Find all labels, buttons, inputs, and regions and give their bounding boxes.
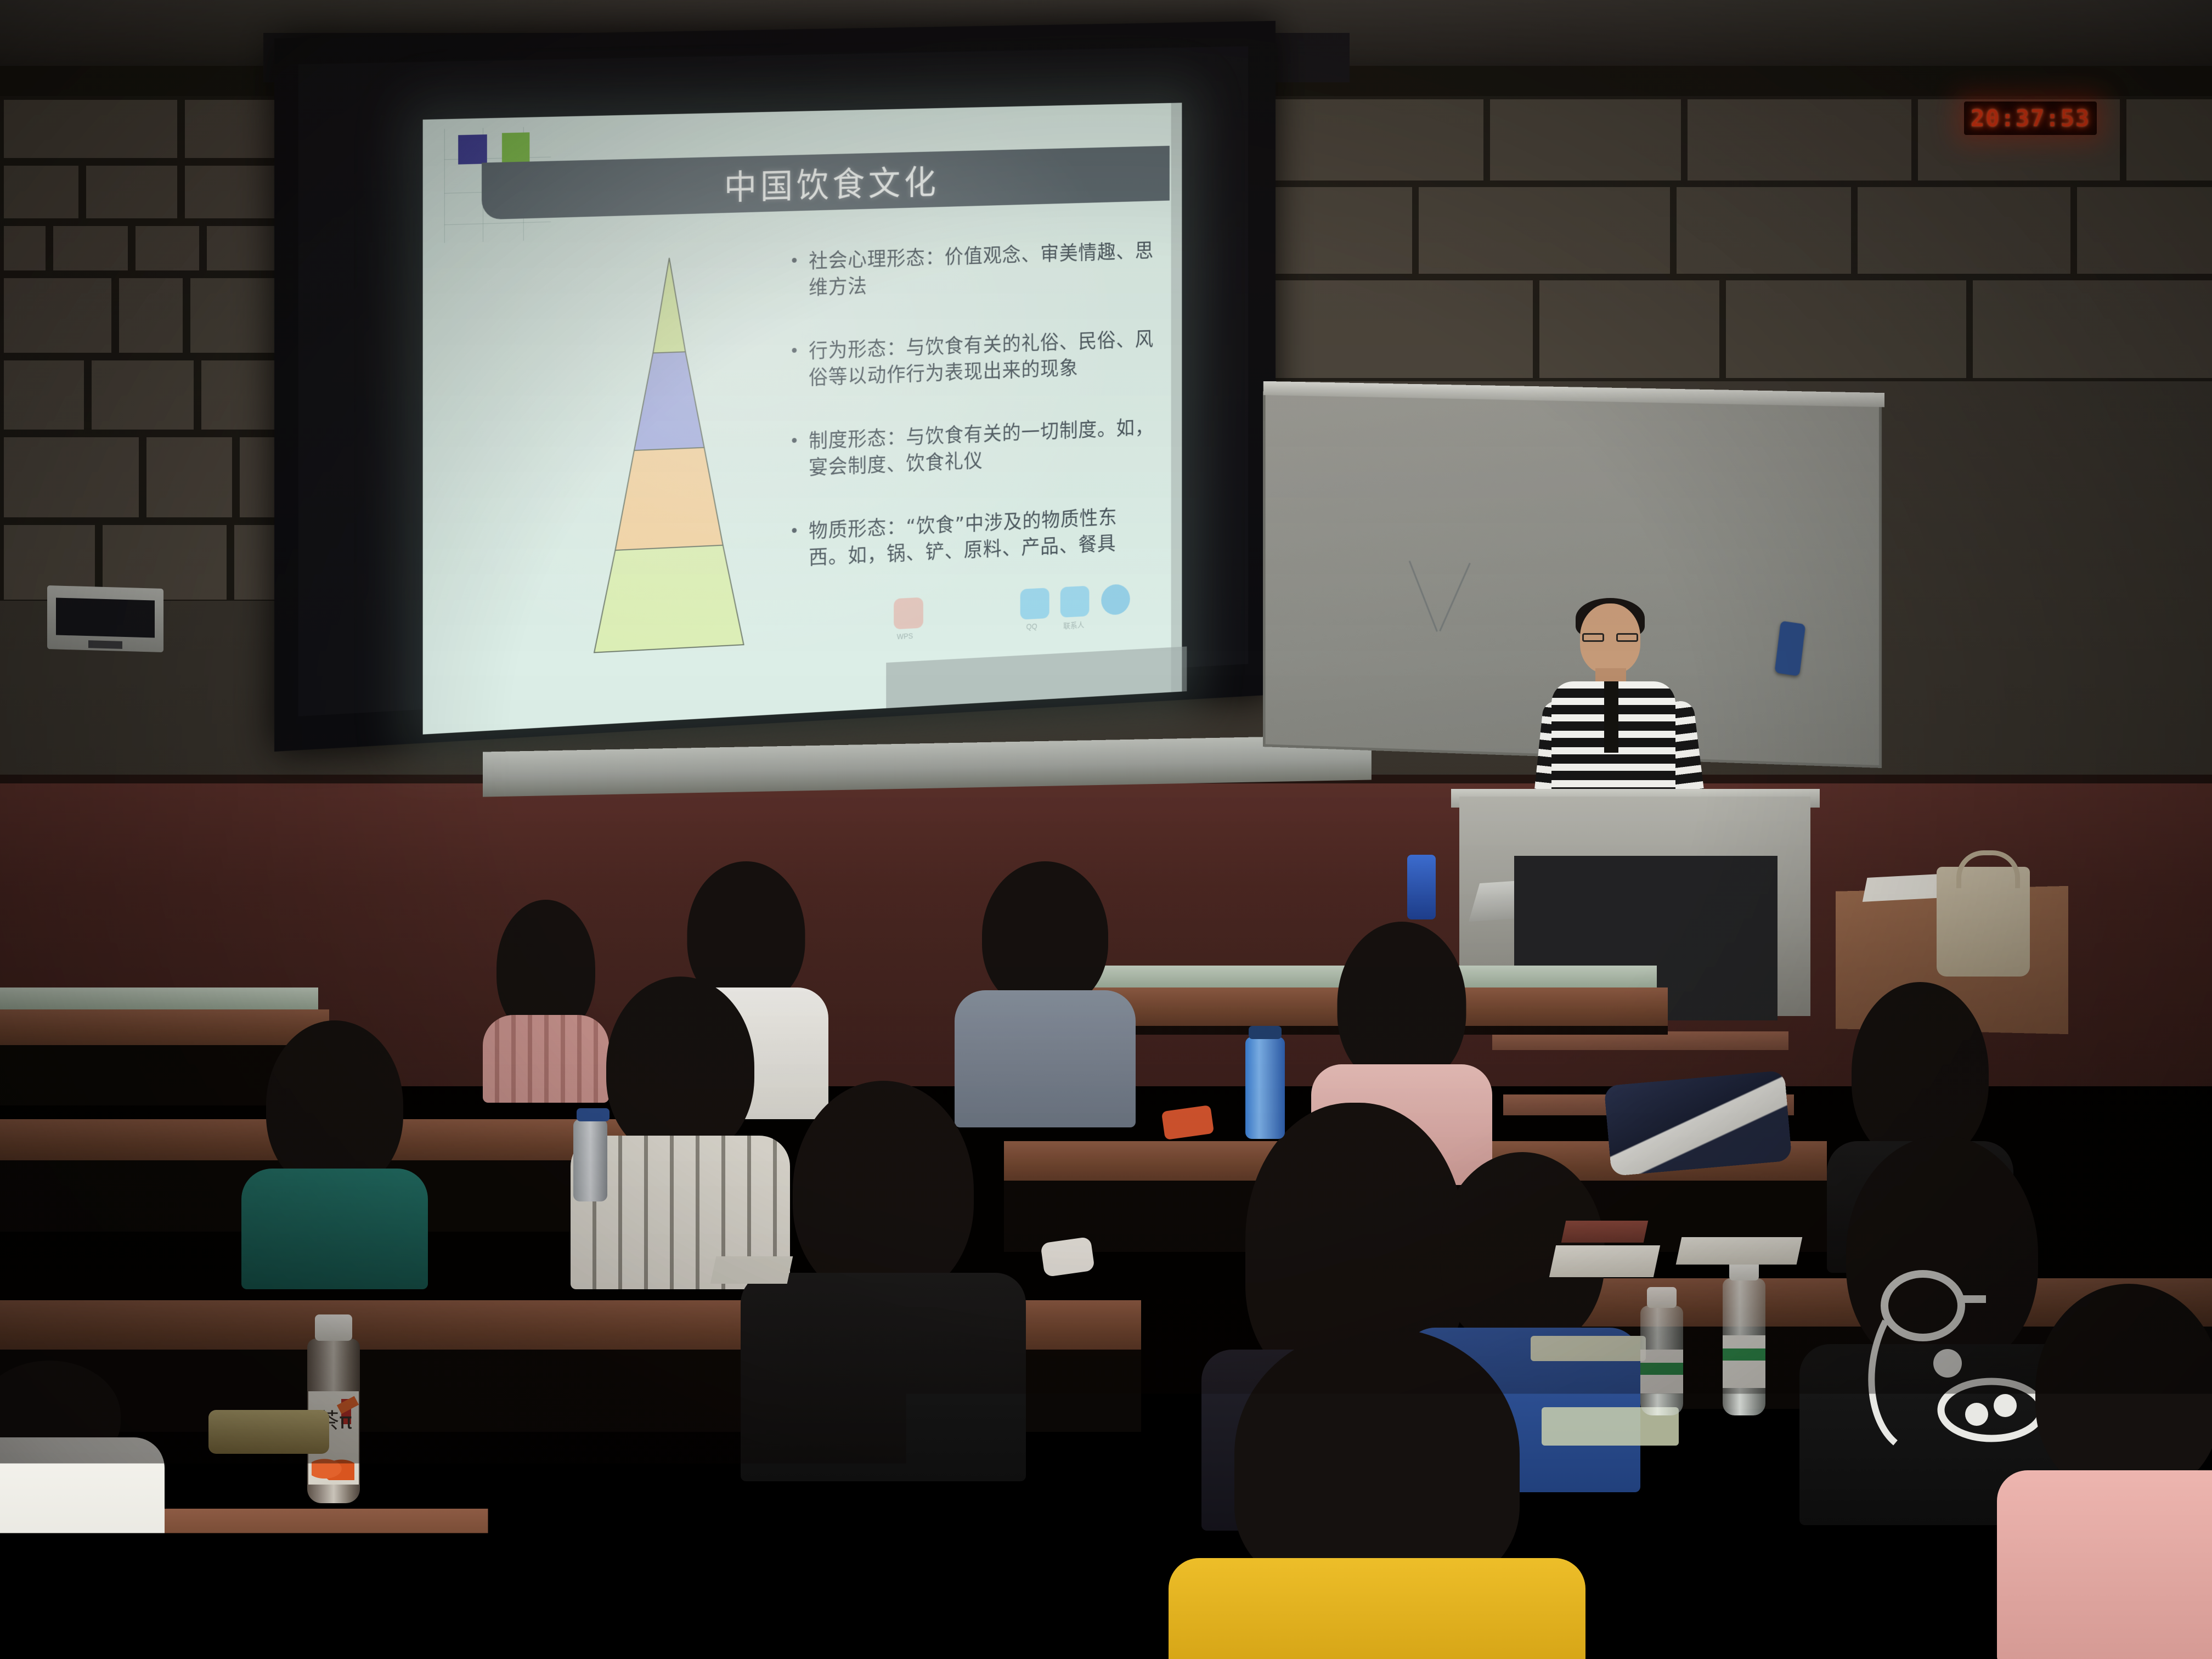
- bullet-dot: •: [791, 338, 809, 392]
- lattice-block: [143, 433, 236, 521]
- panel-screen: [56, 597, 155, 637]
- list-item: • 制度形态：与饮食有关的一切制度。如，宴会制度、饮食礼仪: [791, 415, 1155, 482]
- thermos-cap: [1249, 1026, 1282, 1039]
- student-pink-shirt-right: [1997, 1284, 2212, 1659]
- bullet-text: 物质形态：“饮食”中涉及的物质性东西。如，锅、铲、原料、产品、餐具: [809, 503, 1155, 572]
- bullet-dot: •: [791, 518, 809, 572]
- notebook-open: [1676, 1237, 1803, 1265]
- bottle-label: [1723, 1335, 1765, 1388]
- lattice-block: [1536, 277, 1723, 381]
- cable-svg: [911, 1536, 1251, 1659]
- flask-cap: [577, 1108, 610, 1121]
- panel-button[interactable]: [88, 640, 122, 649]
- bullet-text: 社会心理形态：价值观念、审美情趣、思维方法: [809, 238, 1155, 301]
- bullet-text: 制度形态：与饮食有关的一切制度。如，宴会制度、饮食礼仪: [809, 415, 1155, 482]
- lattice-block: [0, 222, 49, 274]
- screen-surface: 中国饮食文化 • 社会心理形态：价值观念、审美情趣、思维方法: [298, 46, 1248, 716]
- lattice-block: [2123, 96, 2212, 184]
- student-teal-top: [241, 1020, 428, 1284]
- lattice-block: [0, 96, 181, 162]
- list-item: • 物质形态：“饮食”中涉及的物质性东西。如，锅、铲、原料、产品、餐具: [791, 503, 1155, 572]
- lattice-block: [115, 274, 187, 357]
- paper-sheet: [710, 1256, 793, 1284]
- bottle-label: [1640, 1350, 1683, 1393]
- pyramid-svg: [583, 252, 755, 657]
- lattice-block: [1673, 184, 1854, 277]
- slide-title: 中国饮食文化: [724, 155, 940, 210]
- lattice-block: [1251, 277, 1536, 381]
- lattice-block: [181, 96, 285, 162]
- lattice-block: [0, 274, 115, 357]
- wall-led-clock: 20:37:53: [1964, 101, 2097, 135]
- metal-flask: [573, 1119, 607, 1201]
- pyramid-layer-4: [594, 544, 744, 652]
- bullet-text: 行为形态：与饮食有关的礼俗、民俗、风俗等以动作行为表现出来的现象: [809, 326, 1155, 391]
- bullet-dot: •: [791, 249, 809, 302]
- contacts-icon-label: 联系人: [1063, 619, 1084, 631]
- lattice-block: [0, 433, 143, 521]
- deco-square-green: [502, 132, 529, 164]
- wall-control-panel[interactable]: [47, 585, 163, 652]
- label-pepper-art: [312, 1452, 354, 1480]
- four-layer-pyramid-diagram: [583, 252, 755, 657]
- qq-icon[interactable]: [1020, 588, 1049, 619]
- bullet-dot: •: [791, 428, 809, 482]
- podium-shelf-upper: [1492, 1031, 1788, 1050]
- pyramid-layer-1: [653, 257, 685, 353]
- classroom-scene: 20:37:53 中国饮食文化: [0, 0, 2212, 1659]
- slide-bullet-list: • 社会心理形态：价值观念、审美情趣、思维方法 • 行为形态：与饮食有关的礼俗、…: [791, 238, 1155, 610]
- wps-icon-label: WPS: [897, 631, 913, 641]
- whiteboard-magnet[interactable]: [1775, 620, 1806, 676]
- browser-icon[interactable]: [1101, 584, 1130, 616]
- lattice-block: [82, 162, 181, 222]
- earphones-cable: [911, 1536, 1251, 1659]
- qq-icon-label: QQ: [1026, 622, 1037, 631]
- lattice-block: [1970, 277, 2212, 381]
- list-item: • 行为形态：与饮食有关的礼俗、民俗、风俗等以动作行为表现出来的现象: [791, 326, 1155, 392]
- lattice-block: [1415, 184, 1673, 277]
- lattice-block: [0, 162, 82, 222]
- lattice-block: [2074, 184, 2212, 277]
- notebook-stack: [1549, 1245, 1660, 1277]
- pyramid-layer-3: [615, 447, 723, 550]
- wall-lattice-pattern-right: [1251, 96, 2212, 381]
- lattice-block: [1684, 96, 1915, 184]
- projection-screen: 中国饮食文化 • 社会心理形态：价值观念、审美情趣、思维方法: [274, 21, 1276, 752]
- lattice-block: [0, 357, 88, 433]
- lattice-block: [1723, 277, 1970, 381]
- snack-bread: [208, 1410, 329, 1454]
- desktop-icon-row: WPS QQ 联系人: [894, 583, 1155, 659]
- polo-placket: [1604, 681, 1618, 753]
- pyramid-layer-2: [634, 351, 704, 450]
- wps-icon[interactable]: [894, 597, 923, 630]
- deco-square-navy: [458, 134, 487, 165]
- bench-row-backrest: [0, 988, 318, 1009]
- lattice-block: [88, 357, 198, 433]
- book-dark: [1561, 1221, 1649, 1243]
- contacts-icon[interactable]: [1060, 586, 1090, 618]
- bottle-cap: [315, 1314, 352, 1341]
- scrollbar[interactable]: [1171, 103, 1182, 692]
- projected-slide: 中国饮食文化 • 社会心理形态：价值观念、审美情趣、思维方法: [423, 103, 1182, 734]
- lattice-block: [1251, 96, 1487, 184]
- bottle-cap: [1647, 1287, 1677, 1308]
- glasses-icon: [1582, 633, 1638, 642]
- lattice-block: [49, 222, 132, 274]
- lattice-block: [1487, 96, 1684, 184]
- list-item: • 社会心理形态：价值观念、审美情趣、思维方法: [791, 238, 1155, 302]
- water-bottle: [1723, 1278, 1765, 1415]
- navy-jacket: [1604, 1070, 1792, 1176]
- lattice-block: [132, 222, 203, 274]
- lattice-block: [1854, 184, 2074, 277]
- blue-bottle-on-desk: [1407, 855, 1436, 919]
- student-white-left: [0, 1361, 165, 1659]
- blue-thermos: [1245, 1037, 1285, 1139]
- clock-time: 20:37:53: [1971, 105, 2090, 132]
- water-bottle-secondary: [1640, 1306, 1683, 1415]
- face-mask: [1040, 1237, 1095, 1277]
- tote-bag: [1937, 867, 2030, 977]
